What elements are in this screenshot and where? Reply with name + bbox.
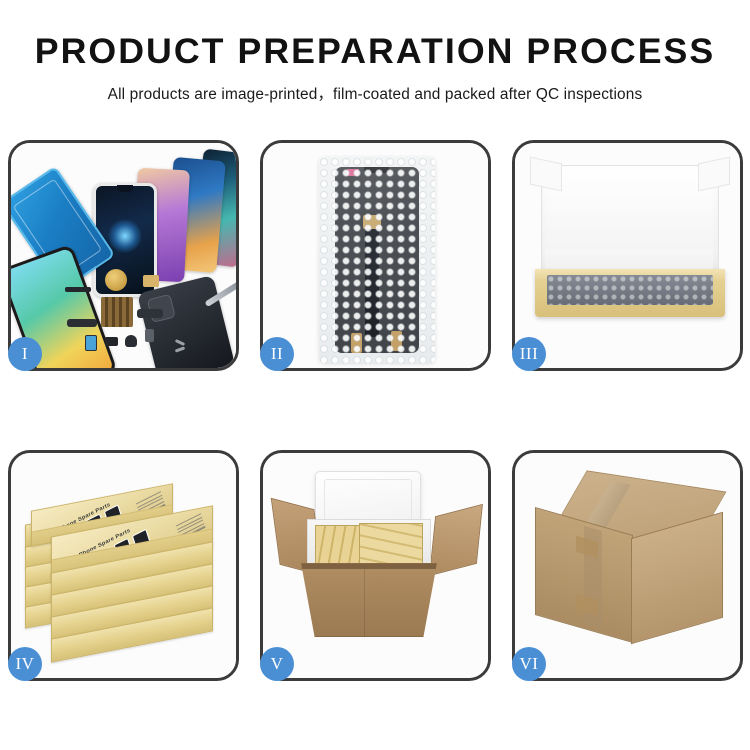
box-spec-lines-front — [176, 513, 206, 542]
camera-module-icon — [125, 335, 137, 347]
screws-icon — [175, 339, 191, 355]
panel-2-image — [263, 143, 488, 368]
panel-1-image — [11, 143, 236, 368]
step-badge-1: I — [8, 337, 42, 371]
process-step-panel-3: III — [512, 140, 743, 371]
header: PRODUCT PREPARATION PROCESS All products… — [0, 0, 750, 104]
panel-3-image — [515, 143, 740, 368]
process-step-panel-2: II — [260, 140, 491, 371]
step-badge-2: II — [260, 337, 294, 371]
earpiece-bar-icon — [65, 287, 91, 292]
carton-packing-scene — [263, 453, 488, 678]
carton-flap-right-icon — [429, 504, 483, 576]
battery-chip-icon — [85, 335, 97, 351]
step-badge-6: VI — [512, 647, 546, 681]
process-step-panel-6: VI — [512, 450, 743, 681]
page-title: PRODUCT PREPARATION PROCESS — [0, 34, 750, 71]
yellow-boxes-stack-icon — [359, 523, 423, 569]
bubble-wrap-bag — [319, 157, 435, 363]
flex-cable-right-icon — [137, 309, 163, 318]
speaker-coil-icon — [105, 269, 127, 291]
bubble-texture — [319, 157, 435, 363]
sealed-carton-scene — [515, 453, 740, 678]
bubble-wrap-scene — [263, 143, 488, 368]
panel-6-image — [515, 453, 740, 678]
phone-parts-scene — [11, 143, 236, 368]
sealed-carton — [531, 481, 727, 641]
ic-chip-icon — [105, 337, 118, 346]
flex-cable-left-icon — [67, 319, 97, 327]
spare-parts-cluster — [71, 283, 191, 367]
product-preparation-process-page: PRODUCT PREPARATION PROCESS All products… — [0, 0, 750, 750]
panel-4-image: Mobile Phone Spare Parts — [11, 453, 236, 678]
panel-5-image — [263, 453, 488, 678]
connector-icon — [143, 275, 159, 287]
step-badge-3: III — [512, 337, 546, 371]
box-stack: Mobile Phone Spare Parts — [19, 477, 235, 657]
step-badge-4: IV — [8, 647, 42, 681]
open-box-scene — [515, 143, 740, 368]
yellow-box-tray-icon — [535, 269, 725, 317]
page-subtitle: All products are image-printed，film-coat… — [0, 82, 750, 104]
bubble-wrapped-part-icon — [547, 275, 713, 305]
process-step-panel-4: Mobile Phone Spare Parts — [8, 450, 239, 681]
process-step-panel-1: I — [8, 140, 239, 371]
process-steps-grid: I II — [8, 140, 742, 681]
step-badge-5: V — [260, 647, 294, 681]
circuit-board-icon — [101, 297, 133, 327]
carton-body-icon — [301, 563, 437, 637]
process-step-panel-5: V — [260, 450, 491, 681]
sim-tray-icon — [145, 329, 154, 342]
stacked-boxes-scene: Mobile Phone Spare Parts — [11, 453, 236, 678]
phone-thumbnail-icon — [132, 529, 152, 555]
